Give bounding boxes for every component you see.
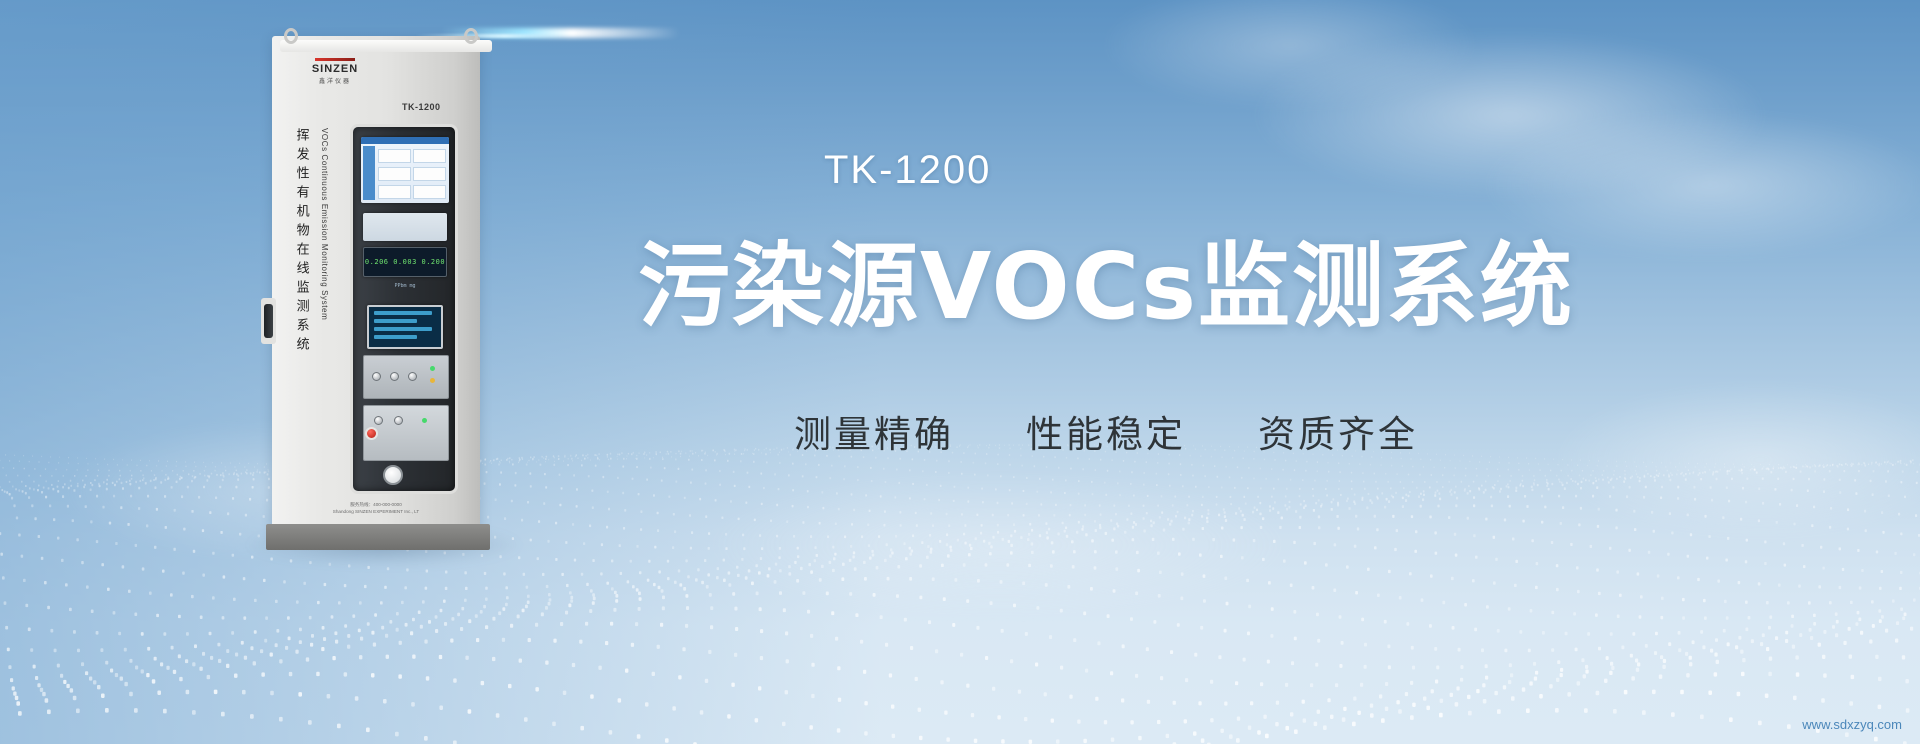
status-led-green	[422, 418, 427, 423]
feature-item: 性能稳定	[1026, 404, 1186, 458]
cabinet-body: SINZEN 鑫洋仪器 TK-1200 挥发性有机物在线监测系统 VOCs Co…	[272, 36, 480, 536]
hmi-value-cell	[378, 167, 411, 181]
control-knob[interactable]	[374, 416, 383, 425]
logo-accent-bar	[315, 58, 355, 61]
hmi-sidebar	[363, 146, 375, 200]
hmi-value-row	[378, 185, 446, 199]
banner-headline: 污染源VOCs监测系统	[556, 212, 1656, 345]
product-banner: SINZEN 鑫洋仪器 TK-1200 挥发性有机物在线监测系统 VOCs Co…	[0, 0, 1920, 744]
control-knob[interactable]	[408, 372, 417, 381]
control-knob[interactable]	[390, 372, 399, 381]
cabinet-base-plinth	[266, 524, 490, 550]
readout-unit-label: PPbm mg	[371, 283, 439, 289]
secondary-panel	[363, 213, 447, 241]
cabinet-top-cap	[280, 40, 492, 52]
status-led-green	[430, 366, 435, 371]
eyebolt-icon	[464, 28, 478, 44]
lcd-line	[374, 319, 417, 323]
control-knob[interactable]	[372, 372, 381, 381]
cabinet-vertical-english-text: VOCs Continuous Emission Monitoring Syst…	[320, 128, 329, 320]
cabinet-vertical-chinese-text: 挥发性有机物在线监测系统	[294, 128, 308, 356]
brand-logo: SINZEN 鑫洋仪器	[300, 58, 370, 85]
lcd-display	[367, 305, 443, 349]
control-knob[interactable]	[394, 416, 403, 425]
company-legal-name: Shandong SINZEN EXPERIMENT Inc., LT	[272, 509, 480, 516]
hmi-header-bar	[361, 137, 449, 144]
eyebolt-icon	[284, 28, 298, 44]
feature-list: 测量精确 性能稳定 资质齐全	[556, 404, 1656, 458]
brand-name-cn: 鑫洋仪器	[300, 76, 370, 85]
emergency-stop-button[interactable]	[365, 427, 378, 440]
hmi-value-cell	[413, 185, 446, 199]
control-panel-middle	[363, 355, 449, 399]
cabinet-door-window: 0.206 0.003 0.200 PPbm mg	[350, 124, 458, 494]
site-watermark: www.sdxzyq.com	[1802, 717, 1902, 732]
cabinet-model-label: TK-1200	[402, 102, 441, 112]
lcd-line	[374, 327, 432, 331]
hmi-value-cell	[378, 149, 411, 163]
hmi-value-cell	[413, 149, 446, 163]
lcd-line	[374, 335, 417, 339]
door-handle[interactable]	[264, 304, 273, 338]
hmi-value-cell	[413, 167, 446, 181]
lcd-line	[374, 311, 432, 315]
cabinet-footer-text: 服务热线：400-000-0000 Shandong SINZEN EXPERI…	[272, 502, 480, 516]
feature-item: 测量精确	[794, 404, 954, 458]
banner-text-content: TK-1200 污染源VOCs监测系统 测量精确 性能稳定 资质齐全	[556, 0, 1656, 744]
pressure-gauge	[383, 465, 403, 485]
hmi-value-row	[378, 149, 446, 163]
service-hotline: 服务热线：400-000-0000	[272, 502, 480, 509]
hmi-value-cell	[378, 185, 411, 199]
product-model-heading: TK-1200	[824, 148, 991, 193]
digital-readout-display: 0.206 0.003 0.200	[363, 247, 447, 277]
brand-name: SINZEN	[300, 63, 370, 75]
hmi-touchscreen	[361, 137, 449, 203]
feature-item: 资质齐全	[1258, 404, 1418, 458]
hmi-value-row	[378, 167, 446, 181]
status-led-amber	[430, 378, 435, 383]
product-image-cabinet: SINZEN 鑫洋仪器 TK-1200 挥发性有机物在线监测系统 VOCs Co…	[262, 26, 502, 566]
